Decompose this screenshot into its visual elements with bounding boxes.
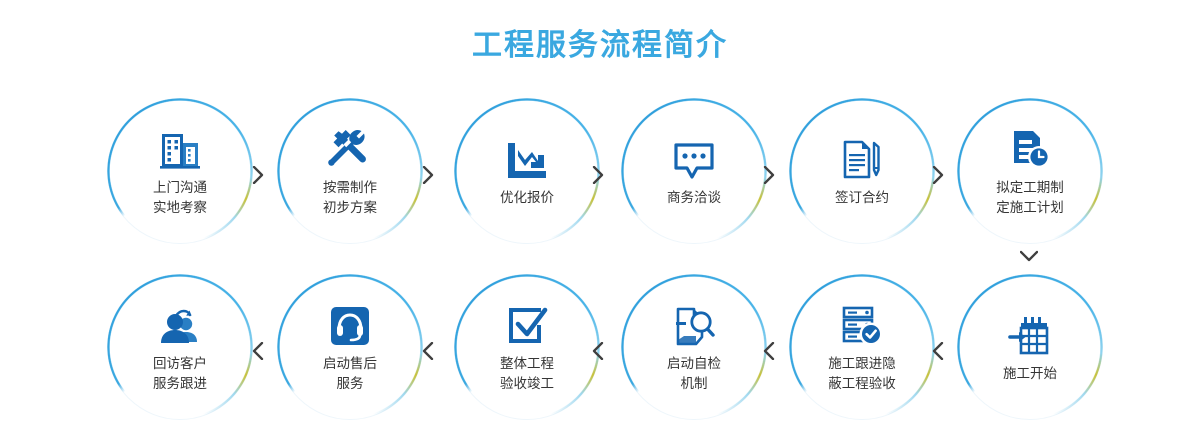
calendar-start-icon: [1008, 311, 1052, 357]
flow-step-3[interactable]: 优化报价: [454, 98, 600, 244]
flow-step-7[interactable]: 施工开始: [957, 274, 1103, 420]
flow-step-label: 整体工程 验收竣工: [500, 354, 554, 394]
flow-step-2[interactable]: 按需制作 初步方案: [277, 98, 423, 244]
label-line-2: 实地考察: [153, 198, 207, 218]
declining-chart-icon: [504, 135, 550, 181]
label-line-2: 机制: [667, 374, 721, 394]
label-line-2: 定施工计划: [996, 198, 1064, 218]
flow-row-2: 回访客户 服务跟进: [0, 268, 1200, 438]
label-line-1: 上门沟通: [153, 178, 207, 198]
label-line-1: 拟定工期制: [996, 178, 1064, 198]
chevron-down-icon: [1020, 247, 1040, 263]
two-users-icon: [158, 301, 202, 347]
label-line-1: 施工开始: [1003, 364, 1057, 384]
flow-step-6[interactable]: 拟定工期制 定施工计划: [957, 98, 1103, 244]
chevron-left-icon: [760, 340, 778, 362]
label-line-1: 按需制作: [323, 178, 377, 198]
flow-step-label: 上门沟通 实地考察: [153, 178, 207, 218]
chevron-left-icon: [249, 340, 267, 362]
flow-row-1: 上门沟通 实地考察: [0, 92, 1200, 262]
label-line-2: 验收竣工: [500, 374, 554, 394]
speech-bubble-icon: [672, 135, 716, 181]
flow-step-label: 启动售后 服务: [323, 354, 377, 394]
label-line-2: 蔽工程验收: [828, 374, 896, 394]
label-line-2: 初步方案: [323, 198, 377, 218]
label-line-1: 签订合约: [835, 188, 889, 208]
office-building-icon: [158, 125, 202, 171]
wrench-screwdriver-icon: [327, 125, 373, 171]
flow-step-label: 拟定工期制 定施工计划: [996, 178, 1064, 218]
flow-step-12[interactable]: 回访客户 服务跟进: [107, 274, 253, 420]
chevron-left-icon: [589, 340, 607, 362]
label-line-1: 启动售后: [323, 354, 377, 374]
label-line-1: 优化报价: [500, 188, 554, 208]
label-line-1: 商务洽谈: [667, 188, 721, 208]
flow-step-label: 施工开始: [1003, 364, 1057, 384]
chevron-left-icon: [929, 340, 947, 362]
flow-step-label: 启动自检 机制: [667, 354, 721, 394]
flow-step-label: 回访客户 服务跟进: [153, 354, 207, 394]
flow-step-4[interactable]: 商务洽谈: [621, 98, 767, 244]
page-title: 工程服务流程简介: [0, 20, 1200, 64]
label-line-1: 回访客户: [153, 354, 207, 374]
flow-step-label: 商务洽谈: [667, 188, 721, 208]
label-line-1: 整体工程: [500, 354, 554, 374]
label-line-2: 服务: [323, 374, 377, 394]
flow-step-5[interactable]: 签订合约: [789, 98, 935, 244]
chevron-right-icon: [760, 164, 778, 186]
flow-step-label: 施工跟进隐 蔽工程验收: [828, 354, 896, 394]
flow-step-11[interactable]: 启动售后 服务: [277, 274, 423, 420]
server-check-icon: [840, 301, 884, 347]
chevron-left-icon: [419, 340, 437, 362]
chevron-right-icon: [419, 164, 437, 186]
process-flow-diagram: 上门沟通 实地考察: [0, 92, 1200, 438]
flow-step-label: 签订合约: [835, 188, 889, 208]
document-clock-icon: [1009, 125, 1051, 171]
flow-step-label: 按需制作 初步方案: [323, 178, 377, 218]
flow-step-label: 优化报价: [500, 188, 554, 208]
contract-pen-icon: [841, 135, 883, 181]
label-line-1: 施工跟进隐: [828, 354, 896, 374]
flow-step-1[interactable]: 上门沟通 实地考察: [107, 98, 253, 244]
chevron-right-icon: [249, 164, 267, 186]
chevron-right-icon: [589, 164, 607, 186]
chevron-right-icon: [929, 164, 947, 186]
document-magnifier-icon: [672, 301, 716, 347]
flow-step-9[interactable]: 启动自检 机制: [621, 274, 767, 420]
checkbox-check-icon: [506, 301, 548, 347]
headset-support-icon: [329, 301, 371, 347]
flow-step-10[interactable]: 整体工程 验收竣工: [454, 274, 600, 420]
flow-step-8[interactable]: 施工跟进隐 蔽工程验收: [789, 274, 935, 420]
label-line-2: 服务跟进: [153, 374, 207, 394]
label-line-1: 启动自检: [667, 354, 721, 374]
